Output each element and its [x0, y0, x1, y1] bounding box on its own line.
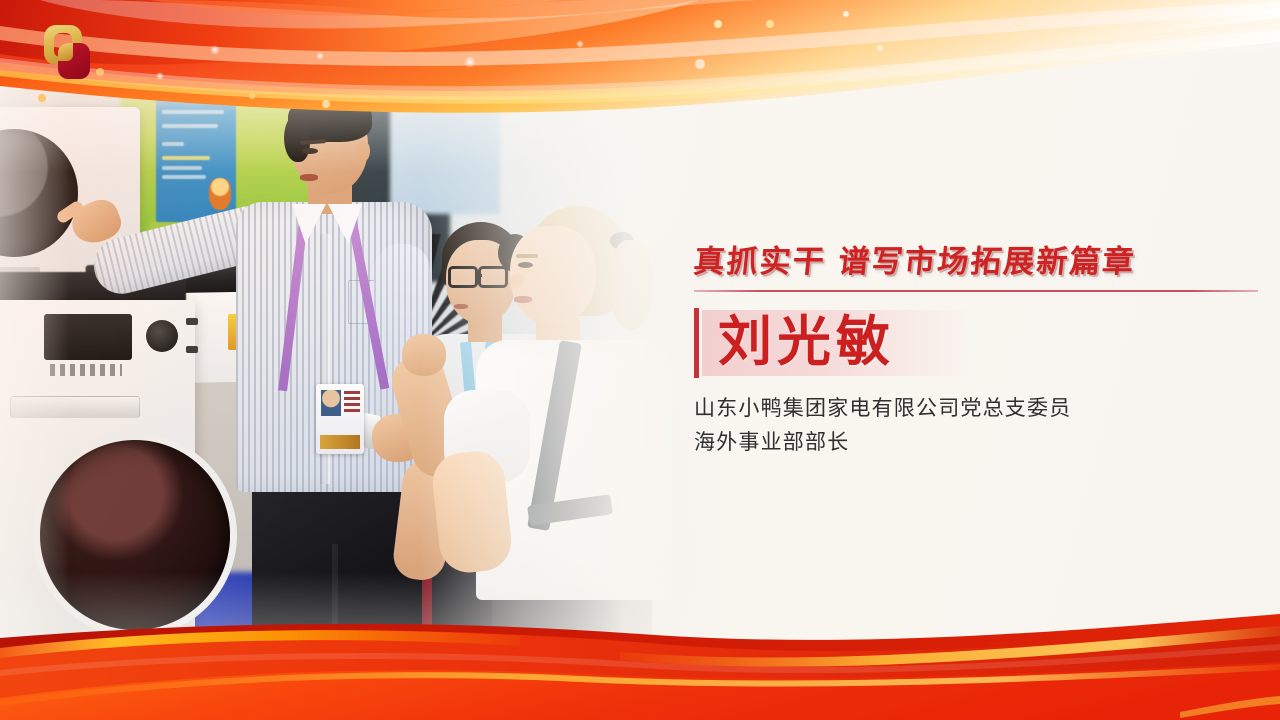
- speaker-name-row: 刘光敏: [694, 308, 1262, 382]
- drum-door-upper: [0, 129, 78, 257]
- detergent-drawer: [10, 396, 140, 418]
- badge-photo-icon: [321, 390, 341, 416]
- red-ribbon-banner-bottom: [0, 600, 1280, 720]
- washing-machine-lower: [0, 300, 195, 640]
- control-buttons-row: [50, 364, 122, 376]
- xiaoya-brand-logo-icon[interactable]: [38, 22, 100, 84]
- program-selector-knob: [146, 320, 178, 352]
- photo-content: [0, 52, 720, 642]
- name-accent-bar: [694, 308, 699, 378]
- speaker-name: 刘光敏: [718, 307, 895, 375]
- page-title: 真抓实干 谱写市场拓展新篇章: [692, 236, 1265, 281]
- title-divider: [694, 290, 1258, 292]
- exhibition-booth-photo: [0, 52, 720, 642]
- control-display-screen: [44, 314, 132, 360]
- exhibitor-badge: [316, 384, 364, 454]
- slide-canvas: 真抓实干 谱写市场拓展新篇章 刘光敏 山东小鸭集团家电有限公司党总支委员 海外事…: [0, 0, 1280, 720]
- person-visitor-blonde: [470, 200, 690, 642]
- speaker-title-line-2: 海外事业部部长: [694, 426, 1262, 460]
- visitor2-arm: [430, 449, 514, 576]
- speaker-info-panel: 真抓实干 谱写市场拓展新篇章 刘光敏 山东小鸭集团家电有限公司党总支委员 海外事…: [694, 236, 1262, 460]
- speaker-title-line-1: 山东小鸭集团家电有限公司党总支委员: [694, 392, 1262, 426]
- red-ribbon-banner-top: [0, 0, 1280, 130]
- visitor2-ponytail: [610, 240, 654, 330]
- visitor1-hand: [402, 334, 446, 376]
